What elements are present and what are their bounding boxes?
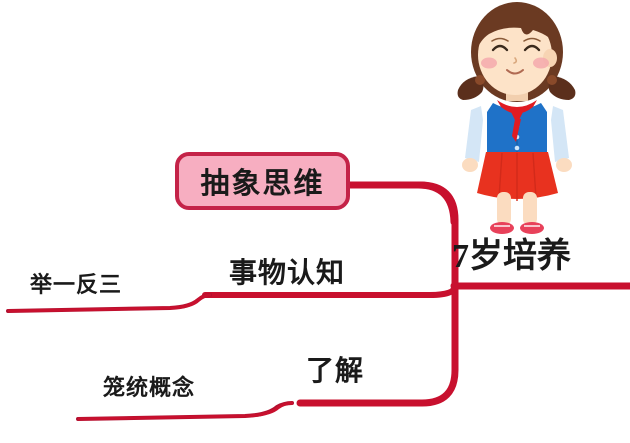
pigtail-right-tie [547,75,557,85]
leg-right [523,192,537,225]
sleeve-right [551,106,569,162]
pigtail-left-tie [475,75,485,85]
shoe-right [520,222,544,234]
sleeve-left [465,106,483,162]
title-connector-path [350,185,454,222]
branch-vague-taper [78,402,293,421]
hand-right [556,158,572,172]
shoe-left [490,222,514,234]
title-box-abstract-thinking[interactable]: 抽象思维 [175,152,350,210]
vest-button [515,146,520,151]
branch-label-inference[interactable]: 举一反三 [30,267,122,299]
blush-right [533,58,549,69]
blush-left [481,58,497,69]
branch-label-vague-concept[interactable]: 笼统概念 [103,370,195,402]
hand-left [462,158,478,172]
branch-label-cognition[interactable]: 事物认知 [229,251,345,291]
title-box-label: 抽象思维 [200,160,324,202]
mindmap-canvas: 抽象思维 7岁培养 事物认知 了解 举一反三 笼统概念 [0,0,630,443]
branch-label-understand[interactable]: 了解 [306,349,364,389]
leg-left [497,192,511,225]
schoolgirl-illustration [455,0,590,240]
